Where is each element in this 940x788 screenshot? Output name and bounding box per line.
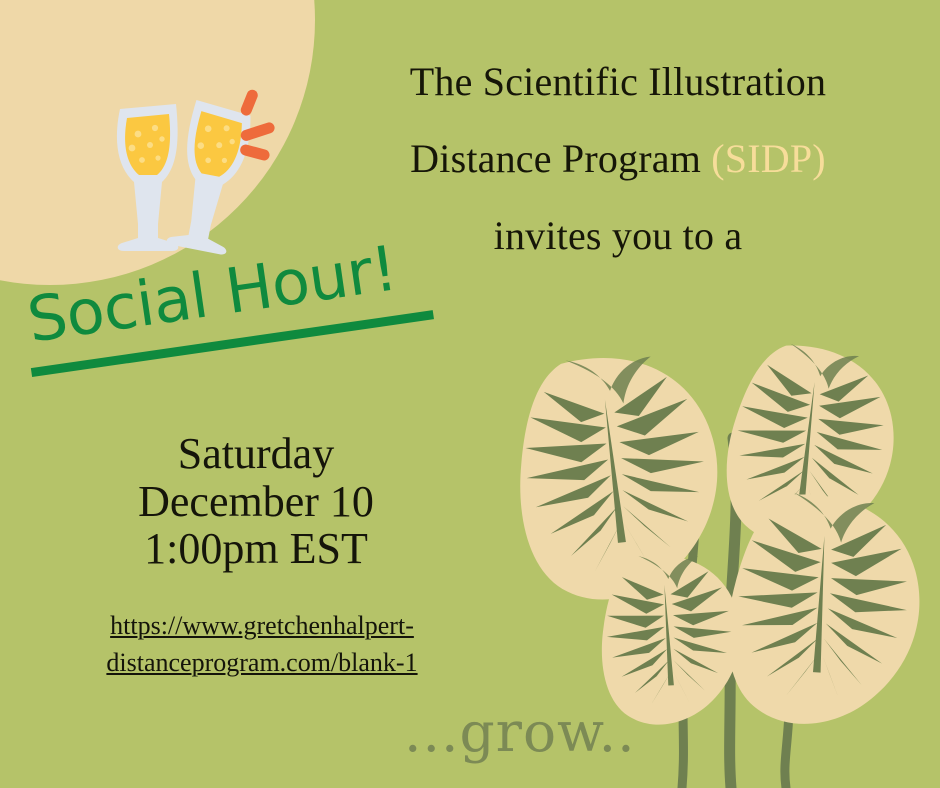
headline-line-2: Distance Program (SIDP): [318, 121, 918, 198]
event-time: 1:00pm EST: [66, 525, 446, 573]
registration-link-line-2[interactable]: distanceprogram.com/blank-1: [62, 645, 462, 682]
grow-tagline: ...grow..: [404, 700, 636, 764]
right-glass-icon: [166, 100, 254, 256]
registration-link[interactable]: https://www.gretchenhalpert- distancepro…: [62, 608, 462, 682]
registration-link-line-1[interactable]: https://www.gretchenhalpert-: [62, 608, 462, 645]
headline-line-1: The Scientific Illustration: [318, 44, 918, 121]
champagne-glasses-icon: [98, 82, 288, 272]
left-glass-icon: [117, 104, 178, 251]
event-date: December 10: [66, 478, 446, 526]
headline-acronym: (SIDP): [711, 136, 826, 181]
event-datetime-block: Saturday December 10 1:00pm EST: [66, 430, 446, 573]
social-hour-poster: The Scientific Illustration Distance Pro…: [0, 0, 940, 788]
event-day: Saturday: [66, 430, 446, 478]
headline-program-text: Distance Program: [410, 136, 711, 181]
